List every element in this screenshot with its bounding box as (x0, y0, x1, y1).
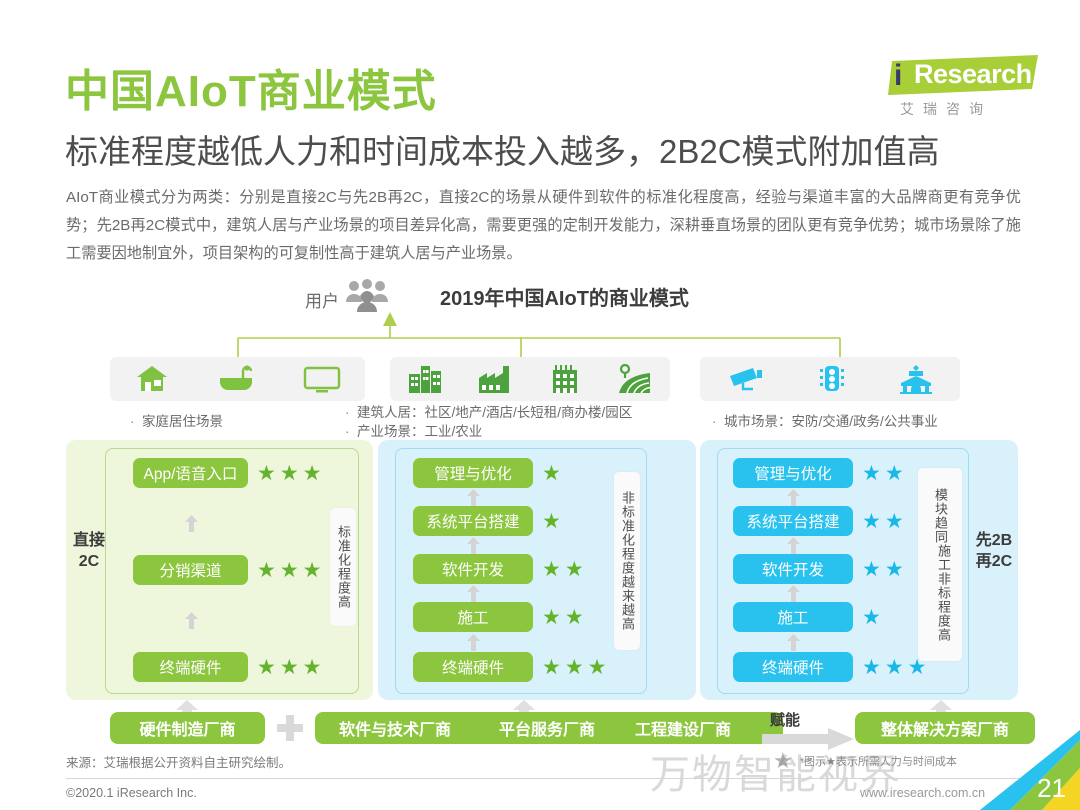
legend-star-icon: ★ (773, 750, 793, 772)
star-icon: ★ (862, 607, 881, 628)
panel-row-left-2[interactable]: 终端硬件 ★ ★ ★ (133, 652, 321, 682)
flow-arrow-up-icon (467, 634, 480, 651)
star-icon: ★ (588, 657, 607, 678)
row-stars: ★ ★ (542, 607, 584, 628)
star-icon: ★ (280, 463, 299, 484)
bullet-dot: · (345, 422, 357, 441)
row-label: 管理与优化 (413, 458, 533, 488)
intro-paragraph: AIoT商业模式分为两类：分别是直接2C与先2B再2C，直接2C的场景从硬件到软… (66, 184, 1021, 268)
flow-arrow-up-icon (787, 489, 800, 506)
logo-wordmark: Research (914, 61, 1032, 88)
star-icon: ★ (303, 463, 322, 484)
scene-icon-band-home (110, 357, 365, 401)
scene-note-text: 产业场景：工业/农业 (357, 424, 482, 439)
page-title: 中国AIoT商业模式 (65, 55, 437, 119)
side-label-line: 直接 (72, 530, 106, 551)
star-icon: ★ (280, 560, 299, 581)
star-icon: ★ (565, 559, 584, 580)
copyright-text: ©2020.1 iResearch Inc. (66, 786, 197, 800)
vertical-tag-right: 模块趋同 施工非标程度高 (918, 468, 962, 661)
panel-row-right-3[interactable]: 施工 ★ (733, 602, 881, 632)
row-stars: ★ ★ ★ (257, 463, 321, 484)
apartment-icon (549, 364, 581, 394)
vertical-tag-line: 施工非标程度高 (934, 544, 952, 642)
row-label: 终端硬件 (733, 652, 853, 682)
star-icon: ★ (257, 560, 276, 581)
star-icon: ★ (303, 657, 322, 678)
star-icon: ★ (885, 657, 904, 678)
flow-arrow-up-icon (787, 585, 800, 602)
flow-arrow-up-icon (467, 537, 480, 554)
side-label-line: 再2C (972, 551, 1016, 572)
row-label: 系统平台搭建 (413, 506, 533, 536)
scene-icon-band-city (700, 357, 960, 401)
city-buildings-icon (408, 364, 442, 394)
star-icon: ★ (542, 657, 561, 678)
vendor-pill-hardware[interactable]: 硬件制造厂商 (110, 712, 265, 744)
star-icon: ★ (862, 657, 881, 678)
bullet-dot: · (712, 412, 724, 431)
bullet-dot: · (345, 403, 357, 422)
page-number: 21 (1037, 773, 1066, 804)
star-icon: ★ (257, 463, 276, 484)
iresearch-logo: i Research 艾瑞咨询 (888, 55, 1038, 115)
panel-row-right-4[interactable]: 终端硬件 ★ ★ ★ (733, 652, 926, 682)
row-stars: ★ (862, 607, 881, 628)
star-icon: ★ (862, 463, 881, 484)
row-stars: ★ ★ (542, 559, 584, 580)
row-stars: ★ (542, 463, 561, 484)
panel-row-mid-0[interactable]: 管理与优化 ★ (413, 458, 561, 488)
diagram-canvas: 用户 2019年中国AIoT的商业模式 (0, 272, 1080, 772)
vertical-tag-left: 标准化程度高 (330, 508, 356, 626)
source-note: 来源：艾瑞根据公开资料自主研究绘制。 (66, 752, 291, 771)
side-label-line: 2C (72, 551, 106, 572)
scene-note-building: ·建筑人居：社区/地产/酒店/长短租/商办楼/园区 ·产业场景：工业/农业 (345, 403, 632, 441)
flow-arrow-up-icon (467, 489, 480, 506)
enable-label: 赋能 (770, 709, 800, 730)
flow-arrow-up-icon (185, 515, 198, 532)
row-stars: ★ ★ (862, 511, 904, 532)
tv-icon (303, 364, 341, 394)
star-icon: ★ (280, 657, 299, 678)
row-stars: ★ ★ ★ (257, 560, 321, 581)
row-label: 软件开发 (413, 554, 533, 584)
star-icon: ★ (542, 511, 561, 532)
logo-chinese-name: 艾瑞咨询 (900, 99, 992, 119)
factory-icon (477, 364, 513, 394)
vertical-tag-line: 模块趋同 (931, 488, 949, 544)
vendor-pill-group[interactable]: 软件与技术厂商 平台服务厂商 工程建设厂商 (315, 712, 783, 744)
star-icon: ★ (885, 559, 904, 580)
people-group-icon (345, 278, 389, 312)
user-label: 用户 (305, 287, 339, 312)
row-stars: ★ ★ (862, 463, 904, 484)
legend-note: *图示★表示所需人力与时间成本 (800, 753, 957, 769)
flow-arrow-up-icon (787, 537, 800, 554)
page-subtitle: 标准程度越低人力和时间成本投入越多，2B2C模式附加值高 (65, 125, 940, 173)
star-icon: ★ (565, 607, 584, 628)
side-label-line: 先2B (972, 530, 1016, 551)
panel-side-label-left: 直接 2C (72, 530, 106, 572)
panel-row-mid-2[interactable]: 软件开发 ★ ★ (413, 554, 584, 584)
scene-note-text: 城市场景：安防/交通/政务/公共事业 (724, 414, 938, 429)
row-stars: ★ ★ ★ (542, 657, 606, 678)
security-camera-icon (727, 364, 765, 394)
row-label: 管理与优化 (733, 458, 853, 488)
star-icon: ★ (542, 463, 561, 484)
star-icon: ★ (257, 657, 276, 678)
farmland-icon (616, 364, 652, 394)
vendor-pill-software: 软件与技术厂商 (339, 716, 451, 740)
bullet-dot: · (130, 412, 142, 431)
row-stars: ★ ★ ★ (862, 657, 926, 678)
scene-note-text: 建筑人居：社区/地产/酒店/长短租/商办楼/园区 (357, 405, 632, 420)
panel-row-right-1[interactable]: 系统平台搭建 ★ ★ (733, 506, 904, 536)
panel-row-right-0[interactable]: 管理与优化 ★ ★ (733, 458, 904, 488)
row-stars: ★ (542, 511, 561, 532)
scene-note-text: 家庭居住场景 (142, 414, 223, 429)
star-icon: ★ (303, 560, 322, 581)
row-label: 终端硬件 (133, 652, 248, 682)
footer-divider (66, 778, 1020, 779)
plus-icon (277, 715, 303, 741)
vertical-tag-mid: 非标准化程度越来越高 (614, 472, 640, 650)
panel-row-right-2[interactable]: 软件开发 ★ ★ (733, 554, 904, 584)
star-icon: ★ (862, 559, 881, 580)
row-stars: ★ ★ ★ (257, 657, 321, 678)
row-label: 系统平台搭建 (733, 506, 853, 536)
panel-row-left-1[interactable]: 分销渠道 ★ ★ ★ (133, 555, 321, 585)
scene-note-home: ·家庭居住场景 (130, 412, 223, 431)
scene-note-city: ·城市场景：安防/交通/政务/公共事业 (712, 412, 938, 431)
traffic-light-icon (819, 364, 845, 394)
star-icon: ★ (862, 511, 881, 532)
row-label: App/语音入口 (133, 458, 248, 488)
row-label: 分销渠道 (133, 555, 248, 585)
row-label: 施工 (733, 602, 853, 632)
flow-arrow-up-icon (185, 612, 198, 629)
star-icon: ★ (542, 607, 561, 628)
vendor-pill-engineering: 工程建设厂商 (635, 716, 731, 740)
row-label: 施工 (413, 602, 533, 632)
panel-row-mid-1[interactable]: 系统平台搭建 ★ (413, 506, 561, 536)
panel-row-mid-4[interactable]: 终端硬件 ★ ★ ★ (413, 652, 606, 682)
panel-row-left-0[interactable]: App/语音入口 ★ ★ ★ (133, 458, 321, 488)
star-icon: ★ (542, 559, 561, 580)
slide-page: 中国AIoT商业模式 标准程度越低人力和时间成本投入越多，2B2C模式附加值高 … (0, 0, 1080, 810)
star-icon: ★ (565, 657, 584, 678)
flow-arrow-up-icon (467, 585, 480, 602)
panel-row-mid-3[interactable]: 施工 ★ ★ (413, 602, 584, 632)
star-icon: ★ (885, 511, 904, 532)
house-icon (135, 364, 169, 394)
legend: ★ *图示★表示所需人力与时间成本 (773, 750, 957, 772)
star-icon: ★ (885, 463, 904, 484)
panel-side-label-right: 先2B 再2C (972, 530, 1016, 572)
vendor-pill-platform: 平台服务厂商 (499, 716, 595, 740)
government-building-icon (899, 364, 933, 394)
row-label: 终端硬件 (413, 652, 533, 682)
row-label: 软件开发 (733, 554, 853, 584)
flow-arrow-up-icon (787, 634, 800, 651)
scene-icon-band-building (390, 357, 670, 401)
row-stars: ★ ★ (862, 559, 904, 580)
enable-arrow-icon (762, 728, 854, 750)
logo-letter-i: i (894, 61, 902, 91)
bathtub-icon (218, 364, 254, 394)
diagram-title: 2019年中国AIoT的商业模式 (440, 282, 689, 311)
